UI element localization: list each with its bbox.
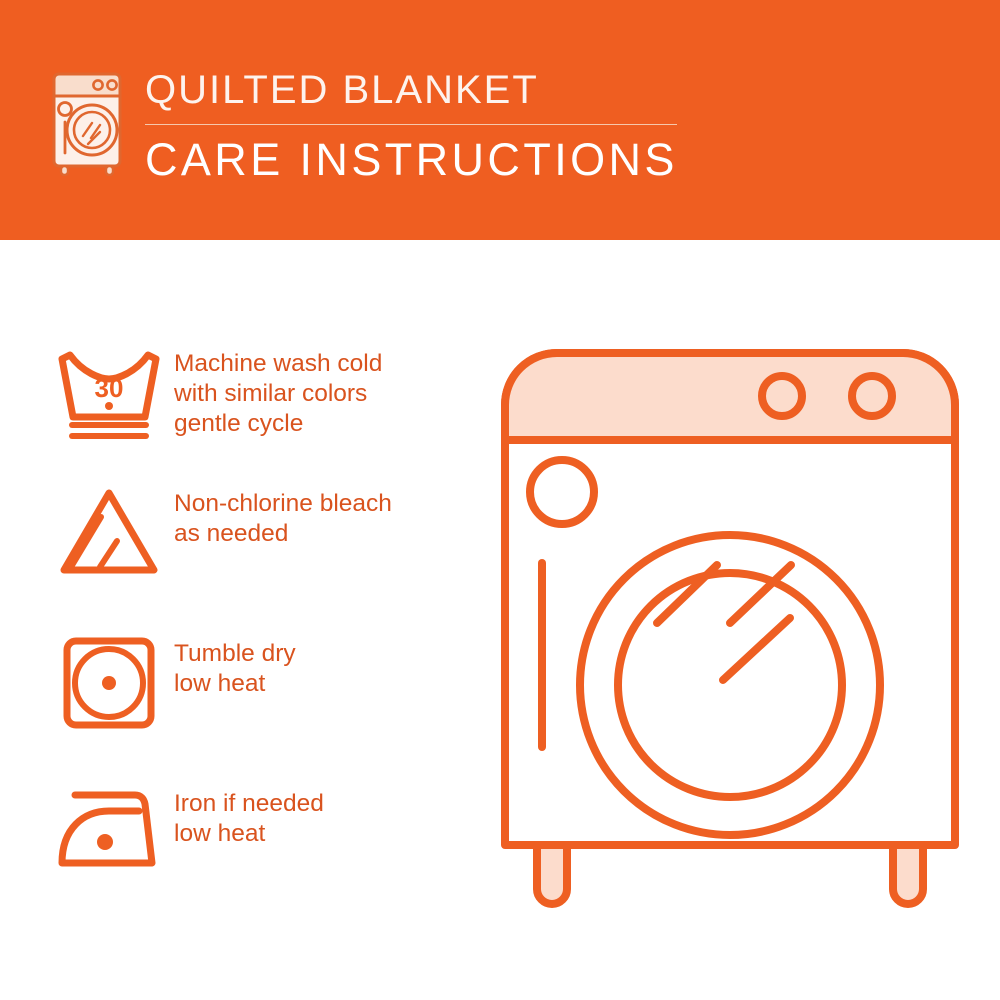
washing-machine-illustration [485, 330, 975, 940]
care-line: low heat [174, 669, 296, 699]
iron-low-heat-icon [44, 785, 174, 871]
care-line: with similar colors [174, 379, 382, 409]
leg-right [893, 845, 923, 904]
header-title-block: QUILTED BLANKET CARE INSTRUCTIONS [145, 66, 705, 185]
title-divider [145, 124, 677, 125]
care-line: low heat [174, 819, 324, 849]
care-item-bleach: Non-chlorine bleach as needed [44, 485, 474, 577]
wash-temperature-value: 30 [95, 373, 124, 403]
care-line: Iron if needed [174, 789, 324, 819]
washing-machine-icon [44, 68, 130, 176]
care-line: Non-chlorine bleach [174, 489, 392, 519]
page-title-primary: QUILTED BLANKET [145, 66, 705, 114]
wash-tub-30-icon: 30 [44, 345, 174, 441]
care-item-iron-label: Iron if needed low heat [174, 785, 324, 849]
care-item-machine-wash-label: Machine wash cold with similar colors ge… [174, 345, 382, 439]
care-item-tumble-dry-label: Tumble dry low heat [174, 635, 296, 699]
care-line: as needed [174, 519, 392, 549]
care-line: Machine wash cold [174, 349, 382, 379]
care-item-tumble-dry: Tumble dry low heat [44, 635, 474, 731]
page-title-secondary: CARE INSTRUCTIONS [145, 135, 705, 185]
care-item-bleach-label: Non-chlorine bleach as needed [174, 485, 392, 549]
leg-left [537, 845, 567, 904]
care-item-machine-wash: 30 Machine wash cold with similar colors… [44, 345, 474, 441]
care-item-iron: Iron if needed low heat [44, 785, 474, 871]
care-instructions-infographic: QUILTED BLANKET CARE INSTRUCTIONS 30 Mac… [0, 0, 1000, 1000]
header-band: QUILTED BLANKET CARE INSTRUCTIONS [0, 0, 1000, 240]
care-line: Tumble dry [174, 639, 296, 669]
care-instruction-list: 30 Machine wash cold with similar colors… [0, 240, 490, 1000]
care-line: gentle cycle [174, 409, 382, 439]
tumble-dry-low-heat-icon [44, 635, 174, 731]
non-chlorine-bleach-triangle-icon [44, 485, 174, 577]
